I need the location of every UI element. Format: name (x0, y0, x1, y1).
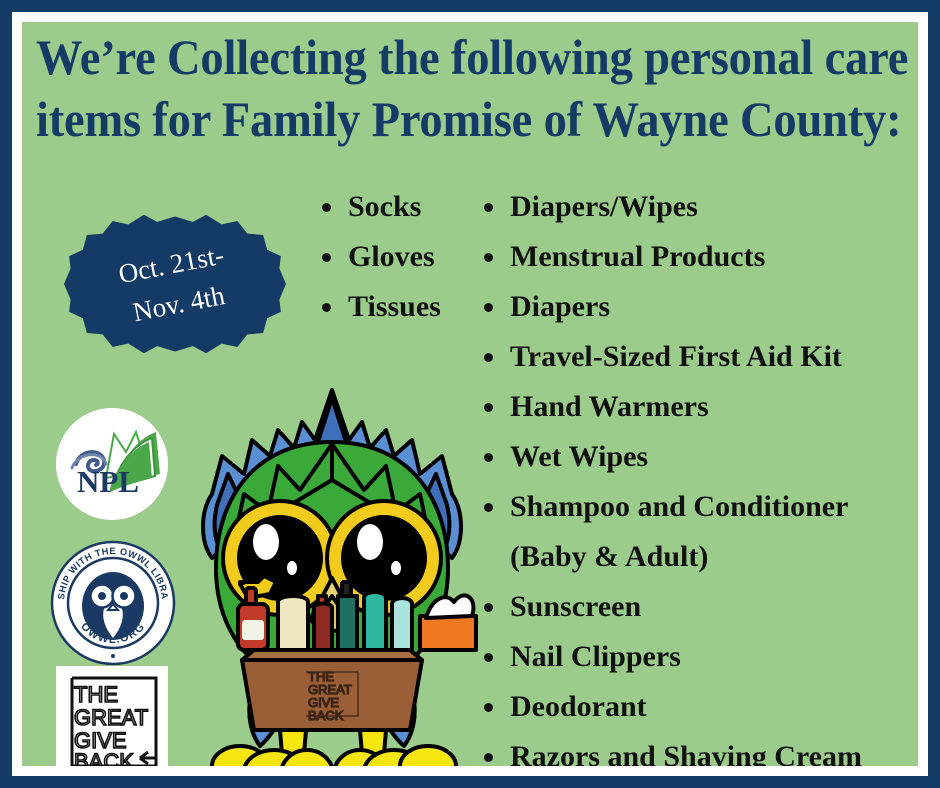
bullet-icon (484, 203, 493, 212)
list-item: Shampoo and Conditioner (478, 482, 862, 532)
bullet-icon (484, 603, 493, 612)
bullet-icon (322, 253, 331, 262)
poster-canvas: We’re Collecting the following personal … (22, 22, 918, 766)
list-item: Hand Warmers (478, 382, 862, 432)
list-item-label: Socks (348, 190, 421, 223)
list-item: Razors and Shaving Cream (478, 732, 862, 766)
list-item: Sunscreen (478, 582, 862, 632)
bullet-icon (484, 403, 493, 412)
poster: We’re Collecting the following personal … (0, 0, 940, 788)
great-give-back-logo-icon: THE GREAT GIVE BACK (60, 670, 164, 766)
list-item-label: Shampoo and Conditioner (510, 490, 848, 523)
donation-items-left-column: Socks Gloves Tissues (316, 182, 441, 332)
bullet-icon (484, 703, 493, 712)
donation-items-right-column: Diapers/Wipes Menstrual Products Diapers… (478, 182, 862, 766)
list-item-label: Diapers/Wipes (510, 190, 698, 223)
list-item-label: (Baby & Adult) (510, 540, 708, 573)
list-item: Wet Wipes (478, 432, 862, 482)
npl-logo-wordmark: NPL (77, 464, 139, 499)
bullet-icon (484, 753, 493, 762)
ggb-line-4: BACK (74, 749, 134, 766)
owwl-logo-icon: A PARTNERSHIP WITH THE OWWL LIBRARY SYST… (50, 540, 176, 666)
list-item-label: Hand Warmers (510, 390, 709, 423)
list-item-label: Tissues (348, 290, 441, 323)
npl-logo-icon: NPL (56, 408, 168, 520)
list-item: Gloves (316, 232, 441, 282)
list-item: Travel-Sized First Aid Kit (478, 332, 862, 382)
owwl-logo: A PARTNERSHIP WITH THE OWWL LIBRARY SYST… (50, 540, 176, 666)
list-item-label: Wet Wipes (510, 440, 648, 473)
bullet-icon (484, 253, 493, 262)
npl-logo: NPL NPL (56, 408, 168, 520)
bullet-icon (322, 303, 331, 312)
list-item-label: Sunscreen (510, 590, 641, 623)
poster-white-border: We’re Collecting the following personal … (12, 12, 928, 776)
bullet-icon (322, 203, 331, 212)
list-item: Menstrual Products (478, 232, 862, 282)
page-title-line-1: We’re Collecting the following personal … (36, 26, 841, 88)
list-item-label: Menstrual Products (510, 240, 765, 273)
list-item-label: Deodorant (510, 690, 647, 723)
list-item-label: Razors and Shaving Cream (510, 740, 862, 766)
date-badge-text: Oct. 21st- Nov. 4th (49, 174, 301, 393)
date-badge: Oct. 21st- Nov. 4th (64, 194, 286, 374)
list-item: Diapers (478, 282, 862, 332)
list-item-label: Travel-Sized First Aid Kit (510, 340, 842, 373)
great-give-back-logo: THE GREAT GIVE BACK THE GREAT GIVE BACK (56, 666, 168, 766)
bullet-icon (484, 503, 493, 512)
list-item: Tissues (316, 282, 441, 332)
bullet-icon (484, 353, 493, 362)
owl-mascot-icon: THE GREAT GIVE BACK (182, 382, 482, 766)
list-item: Socks (316, 182, 441, 232)
bullet-icon (484, 303, 493, 312)
page-title: We’re Collecting the following personal … (36, 26, 841, 150)
list-item: Deodorant (478, 682, 862, 732)
owl-mascot-illustration: THE GREAT GIVE BACK (182, 382, 482, 766)
ggb-line-1: THE (74, 682, 118, 707)
bullet-icon (484, 653, 493, 662)
page-title-line-2: items for Family Promise of Wayne County… (36, 88, 841, 150)
list-item-label: Nail Clippers (510, 640, 681, 673)
bullet-icon (484, 453, 493, 462)
owl-box-label-line-4: BACK (308, 708, 344, 723)
list-item-label: Diapers (510, 290, 610, 323)
list-item: Diapers/Wipes (478, 182, 862, 232)
list-item: Nail Clippers (478, 632, 862, 682)
ggb-line-2: GREAT (74, 705, 148, 730)
owwl-logo-url-label: OWWL.ORG (176, 540, 177, 541)
owwl-logo-ring-label: A PARTNERSHIP WITH THE OWWL LIBRARY SYST… (176, 540, 177, 541)
list-item-continuation: (Baby & Adult) (478, 532, 862, 582)
list-item-label: Gloves (348, 240, 435, 273)
